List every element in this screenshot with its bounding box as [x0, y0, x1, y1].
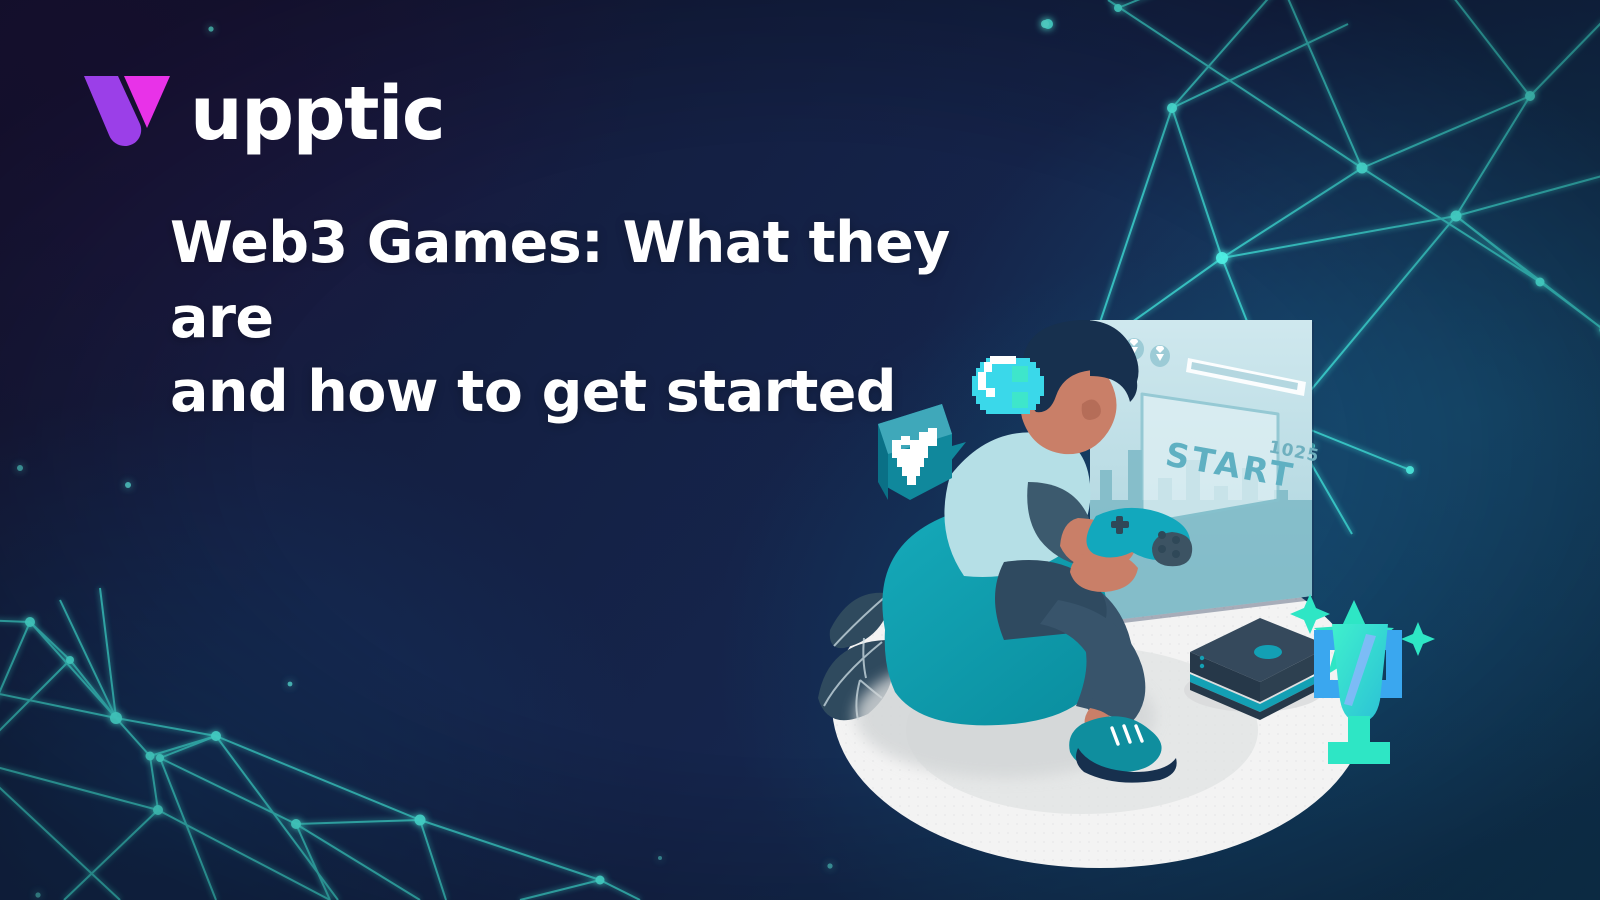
pixel-coin-icon [972, 356, 1044, 414]
banner-root: upptic Web3 Games: What they are and how… [0, 0, 1600, 900]
illustration-svg: START 1025 [790, 300, 1470, 870]
upptic-logo[interactable]: upptic [78, 72, 444, 158]
upptic-wordmark: upptic [190, 83, 444, 147]
upptic-v-mark-icon [78, 72, 174, 158]
gamer-illustration: START 1025 [790, 300, 1470, 870]
